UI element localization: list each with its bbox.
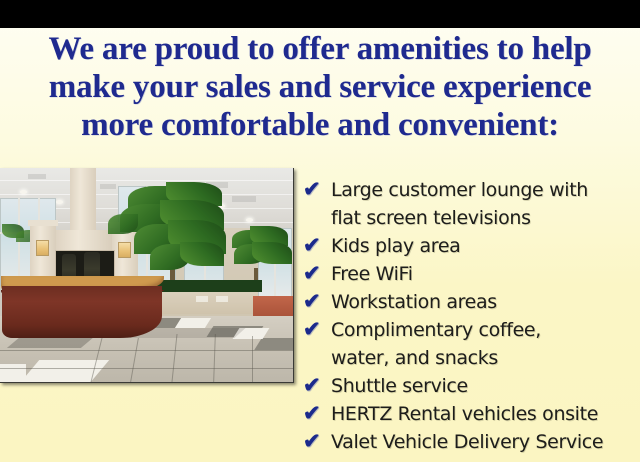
- reception-desk-base: [2, 286, 162, 338]
- list-item-line-1: Large customer lounge with: [331, 176, 640, 204]
- check-icon: ✔: [303, 372, 331, 400]
- list-item-line-1: Free WiFi: [331, 260, 640, 288]
- lobby-photo: [0, 168, 294, 383]
- list-item: ✔ Kids play area: [303, 232, 640, 260]
- list-item-line-1: Kids play area: [331, 232, 640, 260]
- tile-grout-line: [252, 336, 253, 382]
- list-item-text: Large customer lounge with flat screen t…: [331, 176, 640, 232]
- check-icon: ✔: [303, 316, 331, 344]
- list-item: ✔ Complimentary coffee, water, and snack…: [303, 316, 640, 372]
- list-item-text: Workstation areas: [331, 288, 640, 316]
- list-item-line-1: Workstation areas: [331, 288, 640, 316]
- list-item-text: Complimentary coffee, water, and snacks: [331, 316, 640, 372]
- window-mullion: [18, 198, 20, 286]
- recessed-light: [246, 218, 253, 222]
- recessed-light: [20, 190, 27, 194]
- list-item-text: Shuttle service: [331, 372, 640, 400]
- list-item-line-2: flat screen televisions: [331, 204, 640, 232]
- tile-grout-line: [0, 350, 293, 351]
- list-item: ✔ Shuttle service: [303, 372, 640, 400]
- list-item: ✔ Large customer lounge with flat screen…: [303, 176, 640, 232]
- list-item-line-1: Shuttle service: [331, 372, 640, 400]
- floor-accent-band: [254, 338, 294, 350]
- list-item-line-1: HERTZ Rental vehicles onsite: [331, 400, 640, 428]
- list-item-line-1: Complimentary coffee,: [331, 316, 640, 344]
- check-icon: ✔: [303, 400, 331, 428]
- amenities-list: ✔ Large customer lounge with flat screen…: [303, 176, 640, 456]
- list-item: ✔ Valet Vehicle Delivery Service: [303, 428, 640, 456]
- pylon-header: [56, 230, 112, 252]
- tile-grout-line: [0, 368, 293, 369]
- page-title-line-2: make your sales and service experience: [0, 68, 640, 106]
- ceiling-vent: [100, 184, 116, 189]
- floor-light-tile: [0, 364, 26, 382]
- palm-frond: [108, 214, 138, 234]
- palm-frond: [180, 242, 224, 266]
- check-icon: ✔: [303, 288, 331, 316]
- list-item-text: Free WiFi: [331, 260, 640, 288]
- check-icon: ✔: [303, 428, 331, 456]
- planter-plaque: [196, 296, 208, 302]
- recessed-light: [56, 200, 63, 204]
- planter-plaque: [216, 296, 228, 302]
- list-item-text: Valet Vehicle Delivery Service: [331, 428, 640, 456]
- planter-hedge: [156, 280, 262, 292]
- floor-light-tile: [175, 318, 211, 328]
- ceiling-vent: [28, 174, 46, 179]
- list-item-text: Kids play area: [331, 232, 640, 260]
- ceiling-seam: [0, 180, 293, 181]
- list-item: ✔ Workstation areas: [303, 288, 640, 316]
- list-item-line-2: water, and snacks: [331, 344, 640, 372]
- list-item-line-1: Valet Vehicle Delivery Service: [331, 428, 640, 456]
- palm-frond: [252, 242, 292, 264]
- list-item-text: HERTZ Rental vehicles onsite: [331, 400, 640, 428]
- check-icon: ✔: [303, 260, 331, 288]
- slide-canvas: We are proud to offer amenities to help …: [0, 0, 640, 462]
- page-title-line-1: We are proud to offer amenities to help: [0, 30, 640, 68]
- check-icon: ✔: [303, 232, 331, 260]
- wall-sconce: [36, 240, 49, 256]
- page-title-line-3: more comfortable and convenient:: [0, 106, 640, 144]
- letterbox-band-top: [0, 0, 640, 28]
- ceiling-vent: [232, 196, 256, 202]
- page-title: We are proud to offer amenities to help …: [0, 30, 640, 144]
- list-item: ✔ Free WiFi: [303, 260, 640, 288]
- wall-sconce: [118, 242, 131, 258]
- list-item: ✔ HERTZ Rental vehicles onsite: [303, 400, 640, 428]
- check-icon: ✔: [303, 176, 331, 204]
